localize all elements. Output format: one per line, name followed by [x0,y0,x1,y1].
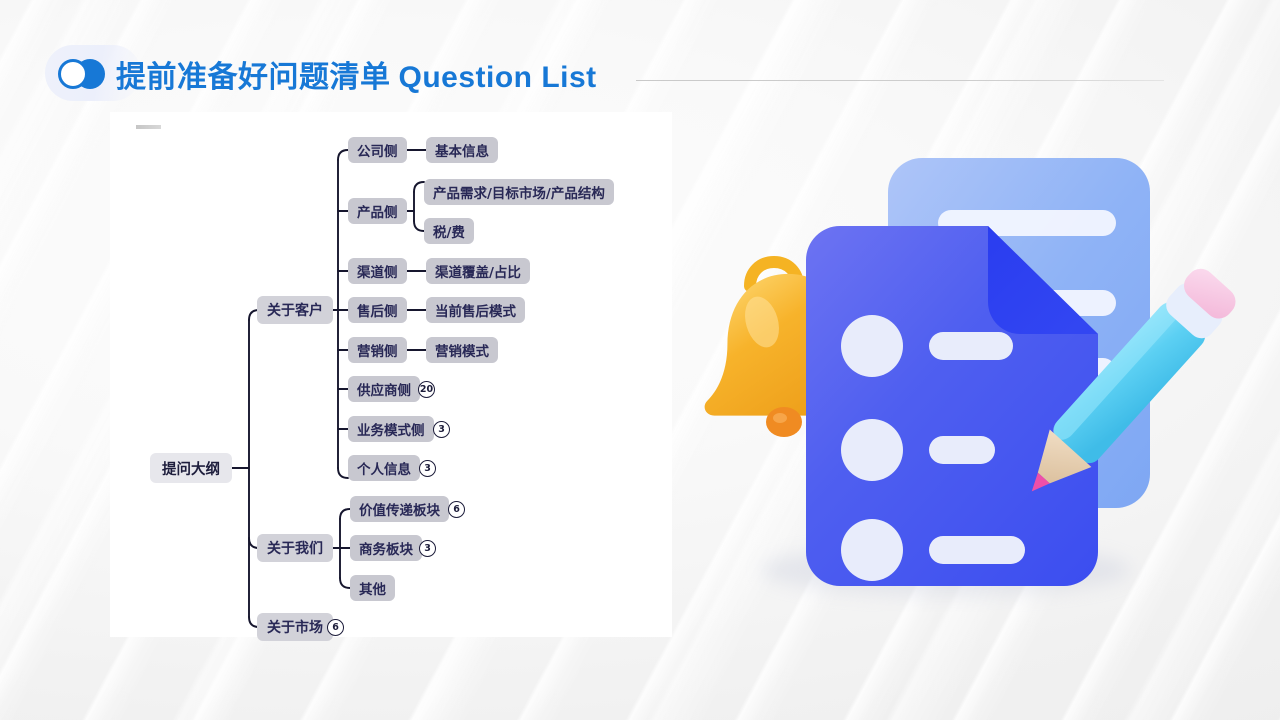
mindmap-node-marketing-side[interactable]: 营销侧 [348,337,407,363]
mindmap-node-aftersales-side[interactable]: 售后侧 [348,297,407,323]
mindmap-leaf-marketing-mode[interactable]: 营销模式 [426,337,498,363]
mindmap-node-value-delivery[interactable]: 价值传递板块 [350,496,449,522]
mindmap-node-personal-info[interactable]: 个人信息 [348,455,420,481]
mindmap-node-business-section[interactable]: 商务板块 [350,535,422,561]
count-badge-value-delivery[interactable]: 6 [448,501,465,518]
count-badge-supplier-side[interactable]: 20 [418,381,435,398]
count-badge-personal-info[interactable]: 3 [419,460,436,477]
count-badge-about-market[interactable]: 6 [327,619,344,636]
checklist-line [929,536,1025,564]
mindmap-node-channel-side[interactable]: 渠道侧 [348,258,407,284]
checklist-line [929,436,995,464]
mindmap-node-product-side[interactable]: 产品侧 [348,198,407,224]
slide-canvas: 提前准备好问题清单Question List [0,0,1280,720]
count-badge-business-model-side[interactable]: 3 [433,421,450,438]
mindmap-branch-about-customer[interactable]: 关于客户 [257,296,333,324]
mindmap-leaf-channel-coverage[interactable]: 渠道覆盖/占比 [426,258,530,284]
mindmap-leaf-current-aftersales-mode[interactable]: 当前售后模式 [426,297,525,323]
checklist-line [929,332,1013,360]
checklist-document-3d-illustration [676,150,1236,620]
checklist-bullet [841,419,903,481]
checklist-bullet [841,519,903,581]
mindmap-root-node[interactable]: 提问大纲 [150,453,232,483]
mindmap-leaf-tax-fee[interactable]: 税/费 [424,218,474,244]
checklist-bullet [841,315,903,377]
mindmap-leaf-basic-info[interactable]: 基本信息 [426,137,498,163]
mindmap-leaf-product-demand[interactable]: 产品需求/目标市场/产品结构 [424,179,614,205]
mindmap-branch-about-us[interactable]: 关于我们 [257,534,333,562]
mindmap-node-company-side[interactable]: 公司侧 [348,137,407,163]
mindmap-node-supplier-side[interactable]: 供应商侧 [348,376,420,402]
mindmap-branch-about-market[interactable]: 关于市场 [257,613,333,641]
mindmap-node-business-model-side[interactable]: 业务模式侧 [348,416,434,442]
count-badge-business-section[interactable]: 3 [419,540,436,557]
mindmap-node-other[interactable]: 其他 [350,575,395,601]
